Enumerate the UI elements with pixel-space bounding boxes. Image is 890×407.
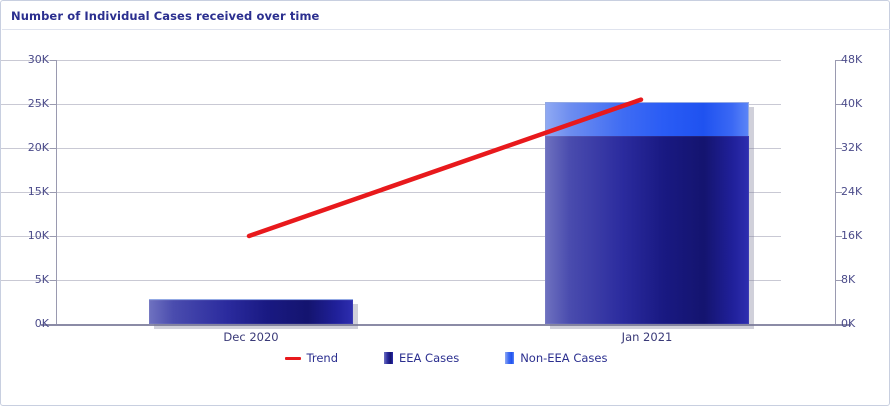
y-axis-left-tick-label: 25K: [7, 97, 49, 110]
y-axis-right-tick-label: 48K: [841, 53, 885, 66]
y-axis-right-tick-label: 8K: [841, 273, 885, 286]
y-axis-left-tick-label: 30K: [7, 53, 49, 66]
x-axis-tick-label: Jan 2021: [587, 330, 707, 344]
legend-item-non-eea-cases[interactable]: Non-EEA Cases: [505, 351, 607, 365]
legend-item-trend[interactable]: Trend: [285, 351, 338, 365]
legend-item-label: EEA Cases: [399, 351, 459, 365]
bar-segment-eea[interactable]: [149, 300, 353, 324]
y-axis-right-tick-label: 40K: [841, 97, 885, 110]
bar-jan-2021[interactable]: [545, 102, 749, 324]
page-title: Number of Individual Cases received over…: [11, 9, 319, 23]
y-axis-left-tick-label: 15K: [7, 185, 49, 198]
bar-segment-eea[interactable]: [545, 136, 749, 324]
legend-item-label: Trend: [307, 351, 338, 365]
y-axis-left-tick-label: 20K: [7, 141, 49, 154]
y-axis-left-tick-label: 10K: [7, 229, 49, 242]
y-axis-right-tick-label: 0K: [841, 317, 885, 330]
y-axis-right-tick-label: 24K: [841, 185, 885, 198]
legend-box-swatch-icon: [505, 352, 514, 364]
gridline: [1, 60, 781, 61]
y-axis-right-tick-label: 32K: [841, 141, 885, 154]
title-divider: [2, 29, 890, 30]
y-axis-left-tick-label: 0K: [7, 317, 49, 330]
legend-item-label: Non-EEA Cases: [520, 351, 607, 365]
bar-dec-2020[interactable]: [149, 299, 353, 324]
y-axis-left-tick-label: 5K: [7, 273, 49, 286]
y-axis-right-tick-label: 16K: [841, 229, 885, 242]
x-axis-tick-label: Dec 2020: [191, 330, 311, 344]
legend-item-eea-cases[interactable]: EEA Cases: [384, 351, 459, 365]
bar-segment-non-eea[interactable]: [545, 102, 749, 135]
chart-panel: Number of Individual Cases received over…: [0, 0, 890, 406]
y-axis-left-line: [56, 60, 57, 325]
legend-box-swatch-icon: [384, 352, 393, 364]
trend-line: [1, 1, 890, 407]
y-axis-right-line: [835, 60, 836, 325]
chart-legend: TrendEEA CasesNon-EEA Cases: [1, 351, 890, 365]
legend-line-swatch-icon: [285, 357, 301, 360]
